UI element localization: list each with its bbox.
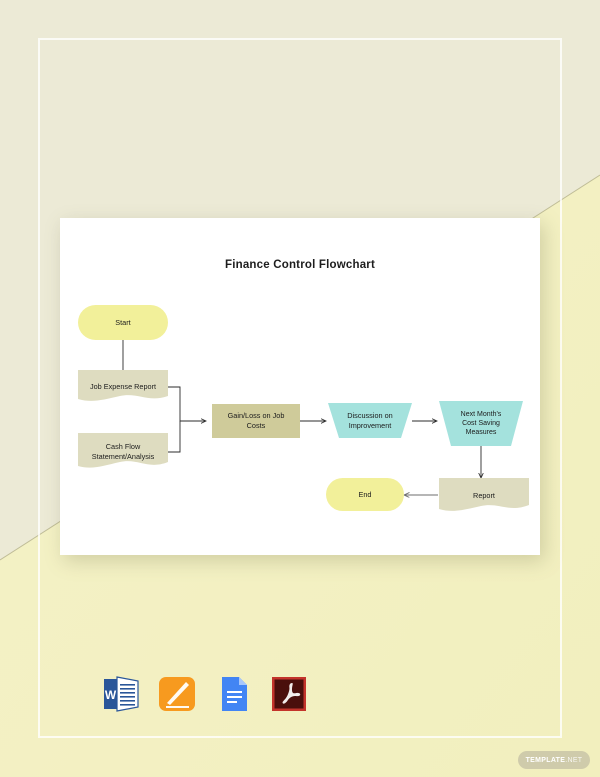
flow-node-report[interactable]: Report xyxy=(439,478,529,513)
flow-node-report-label: Report xyxy=(473,491,495,501)
flow-node-start[interactable]: Start xyxy=(78,305,168,340)
flow-node-cash-flow-label: Cash Flow Statement/Analysis xyxy=(92,442,154,461)
template-preview-card: Finance Control Flowchart xyxy=(60,218,540,555)
watermark-primary: TEMPLATE xyxy=(526,757,566,764)
file-format-icon-row: W xyxy=(100,671,310,717)
flow-node-gain-loss[interactable]: Gain/Loss on Job Costs xyxy=(212,404,300,438)
pdf-icon[interactable] xyxy=(268,673,310,715)
watermark-secondary: .NET xyxy=(565,757,582,764)
template-net-watermark: TEMPLATE.NET xyxy=(518,751,590,769)
flow-node-end-label: End xyxy=(359,490,372,500)
flow-node-next-month-measures-label: Next Month's Cost Saving Measures xyxy=(461,410,502,438)
apple-pages-icon[interactable] xyxy=(156,673,198,715)
flow-node-next-month-measures[interactable]: Next Month's Cost Saving Measures xyxy=(439,401,523,446)
flow-node-job-expense-report-label: Job Expense Report xyxy=(90,382,156,392)
flowchart-canvas: Start Job Expense Report Cash Flow State… xyxy=(60,218,540,555)
flow-node-job-expense-report[interactable]: Job Expense Report xyxy=(78,370,168,403)
ms-word-icon[interactable]: W xyxy=(100,673,142,715)
flow-node-end[interactable]: End xyxy=(326,478,404,511)
google-docs-icon[interactable] xyxy=(212,673,254,715)
svg-text:W: W xyxy=(105,688,117,702)
flow-node-cash-flow[interactable]: Cash Flow Statement/Analysis xyxy=(78,433,168,470)
flow-node-discussion[interactable]: Discussion on Improvement xyxy=(328,403,412,438)
page-root: Finance Control Flowchart xyxy=(0,0,600,777)
flow-node-discussion-label: Discussion on Improvement xyxy=(347,411,392,430)
flow-node-gain-loss-label: Gain/Loss on Job Costs xyxy=(228,411,285,430)
flow-node-start-label: Start xyxy=(115,318,130,328)
